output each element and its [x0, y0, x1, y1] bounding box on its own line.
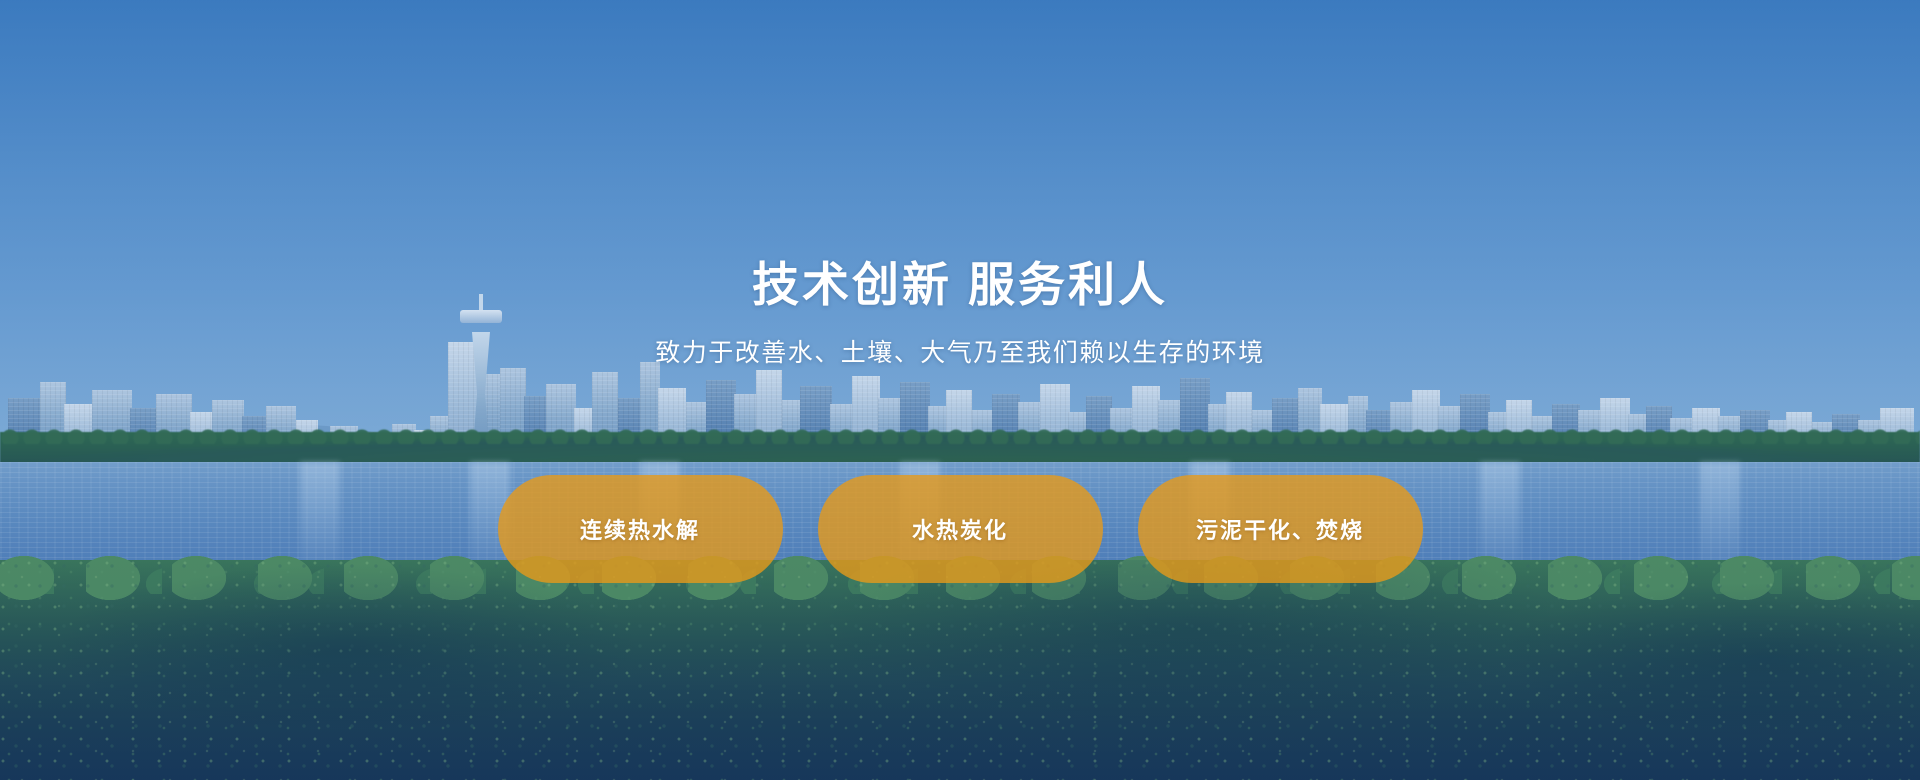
mangrove-foreground	[0, 560, 1920, 780]
far-bank-treeline	[0, 432, 1920, 466]
pill-label: 污泥干化、焚烧	[1196, 513, 1364, 545]
foliage-shading	[0, 560, 1920, 780]
pill-button-hydrothermal-carbonization[interactable]: 水热炭化	[818, 475, 1103, 583]
service-pill-group: 连续热水解 水热炭化 污泥干化、焚烧	[0, 475, 1920, 583]
pill-button-continuous-thermal-hydrolysis[interactable]: 连续热水解	[498, 475, 783, 583]
pill-button-sludge-drying-incineration[interactable]: 污泥干化、焚烧	[1138, 475, 1423, 583]
pill-label: 水热炭化	[912, 513, 1008, 545]
hero-banner: 技术创新 服务利人 致力于改善水、土壤、大气乃至我们赖以生存的环境 连续热水解 …	[0, 0, 1920, 780]
pill-label: 连续热水解	[580, 513, 700, 545]
